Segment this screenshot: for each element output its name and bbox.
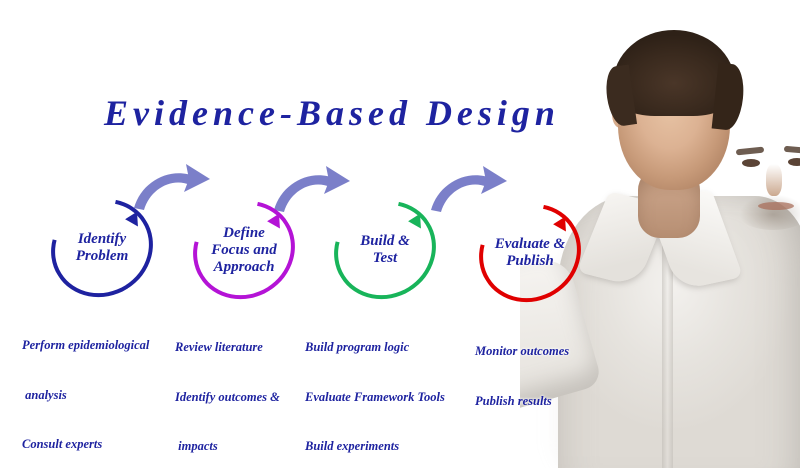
bullet-item: Perform epidemiological: [22, 337, 149, 354]
stage-bullets-define-focus-and-approach: Review literature Identify outcomes & im…: [175, 306, 280, 468]
bullet-item: impacts: [175, 438, 280, 455]
stage-bullets-build-and-test: Build program logic Evaluate Framework T…: [305, 306, 445, 468]
mouth: [758, 202, 794, 210]
stage-label-define-focus-and-approach: Define Focus and Approach: [186, 225, 302, 275]
bullet-item: Build experiments: [305, 438, 445, 455]
bullet-item: Publish results: [475, 393, 569, 410]
head: [618, 44, 730, 190]
stubble: [730, 178, 800, 230]
ear-left: [612, 100, 628, 128]
eye-left: [742, 159, 760, 167]
stage-node-define-focus-and-approach[interactable]: Define Focus and Approach: [192, 202, 296, 298]
page-title: Evidence-Based Design: [104, 92, 560, 134]
bullet-item: Evaluate Framework Tools: [305, 389, 445, 406]
shirt-collar-left: [577, 191, 670, 287]
eyebrow-left: [736, 147, 764, 156]
stage-label-build-and-test: Build & Test: [327, 233, 443, 267]
bullet-item: Identify outcomes &: [175, 389, 280, 406]
stage-bullets-evaluate-and-publish: Monitor outcomes Publish results: [475, 310, 569, 442]
diagram-canvas: Evidence-Based Design Identify Problem P…: [0, 0, 800, 468]
bullet-item: Consult experts: [22, 436, 149, 453]
neck: [638, 168, 700, 238]
bullet-item: analysis: [22, 387, 149, 404]
hair: [613, 30, 735, 116]
shirt: [558, 196, 800, 468]
bullet-item: Build program logic: [305, 339, 445, 356]
stage-node-build-and-test[interactable]: Build & Test: [333, 202, 437, 298]
stage-label-evaluate-and-publish: Evaluate & Publish: [472, 236, 588, 270]
bullet-item: Review literature: [175, 339, 280, 356]
eye-right: [788, 158, 800, 166]
nose: [766, 164, 782, 196]
bullet-item: Monitor outcomes: [475, 343, 569, 360]
stage-node-identify-problem[interactable]: Identify Problem: [50, 200, 154, 296]
eyebrow-right: [784, 146, 800, 154]
ear-right: [720, 100, 736, 128]
stage-label-identify-problem: Identify Problem: [44, 231, 160, 265]
stage-bullets-identify-problem: Perform epidemiological analysis Consult…: [22, 304, 149, 468]
shirt-collar-right: [647, 189, 743, 290]
stage-node-evaluate-and-publish[interactable]: Evaluate & Publish: [478, 205, 582, 301]
